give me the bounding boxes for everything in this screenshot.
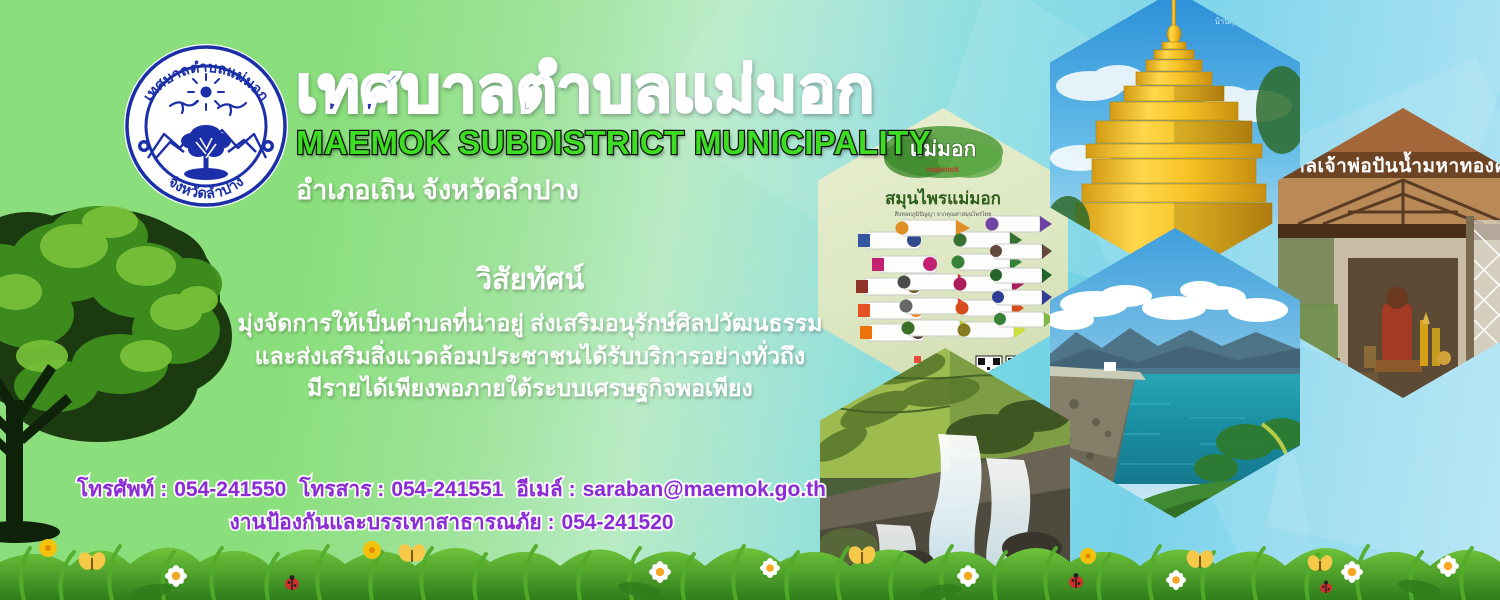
district-province-subtitle: อำเภอเถิน จังหวัดลำปาง bbox=[296, 168, 956, 211]
shrine-hex[interactable]: ศาลเจ้าพ่อปันน้ำมหาทองคำ bbox=[1278, 108, 1500, 398]
vision-line-3: มีรายได้เพียงพอภายใต้ระบบเศรษฐกิจพอเพียง bbox=[230, 372, 830, 405]
tree-silhouette bbox=[0, 150, 270, 550]
vision-block: วิสัยทัศน์ มุ่งจัดการให้เป็นตำบลที่น่าอย… bbox=[230, 256, 830, 405]
svg-text:บ้านกุ่ม อำเภอเถิน: บ้านกุ่ม อำเภอเถิน bbox=[1215, 17, 1278, 26]
english-title: MAEMOK SUBDISTRICT MUNICIPALITY bbox=[296, 124, 956, 162]
vision-line-2: และส่งเสริมสิ่งแวดล้อมประชาชนได้รับบริกา… bbox=[230, 340, 830, 373]
thai-title: เทศบาลตำบลแม่มอก bbox=[296, 58, 956, 122]
header-title-block: เทศบาลตำบลแม่มอก MAEMOK SUBDISTRICT MUNI… bbox=[296, 58, 956, 211]
pagoda-caption: วัดพระธาตุ bbox=[1209, 0, 1271, 12]
grass-flowers-border bbox=[0, 522, 1500, 600]
fax-value: 054-241551 bbox=[391, 478, 503, 501]
fax-label: โทรสาร : bbox=[299, 478, 384, 501]
vision-heading: วิสัยทัศน์ bbox=[230, 256, 830, 302]
email-label: อีเมล์ : bbox=[516, 478, 575, 501]
svg-text:สืบทอดภูมิปัญญา จากคุณค่าสมุนไ: สืบทอดภูมิปัญญา จากคุณค่าสมุนไพรไทย bbox=[895, 211, 992, 218]
vision-line-1: มุ่งจัดการให้เป็นตำบลที่น่าอยู่ ส่งเสริม… bbox=[230, 307, 830, 340]
municipality-banner: แม่มอก maemok สมุนไพรแม่มอก สืบทอดภูมิปั… bbox=[0, 0, 1500, 600]
reservoir-dam-hex[interactable] bbox=[1050, 228, 1300, 518]
email-value[interactable]: saraban@maemok.go.th bbox=[583, 478, 826, 501]
